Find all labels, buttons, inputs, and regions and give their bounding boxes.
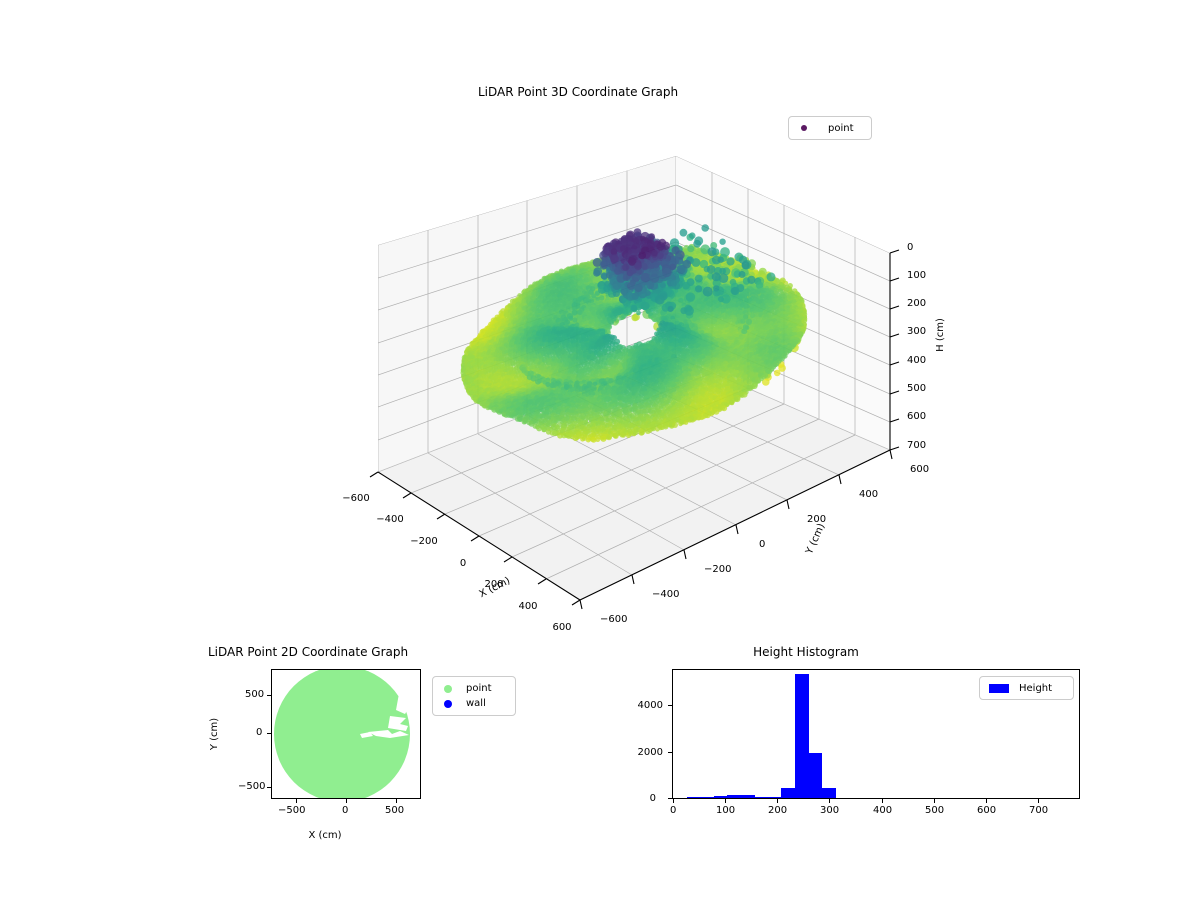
circle-marker-icon	[440, 685, 456, 693]
legend-item-point[interactable]: point	[433, 681, 515, 696]
chart-3d-title: LiDAR Point 3D Coordinate Graph	[478, 85, 678, 99]
histogram-bar	[754, 797, 768, 798]
x-tick-label-hist: 700	[1029, 806, 1048, 816]
x-axis-label-2d: X (cm)	[308, 831, 341, 841]
histogram-bar	[700, 797, 714, 798]
circle-marker-icon	[440, 700, 456, 708]
y-axis-label-3d: Y (cm)	[804, 522, 828, 557]
y-tick-label-hist: 4000	[638, 701, 663, 711]
histogram-bar	[727, 795, 741, 798]
y-tick-label-2d: 0	[256, 728, 262, 738]
histogram-bar	[714, 796, 728, 798]
chart-2d-legend[interactable]: point wall	[432, 676, 516, 716]
x-tick-label-2d: −500	[278, 806, 305, 816]
histogram-bar	[822, 788, 836, 798]
y-tick-label-2d: −500	[238, 782, 265, 792]
x-tick-label-hist: 200	[768, 806, 787, 816]
chart-3d-canvas: −600 −400 −200 0 200 400 600 −600 −400 −…	[300, 120, 940, 640]
x-tick-label-hist: 500	[925, 806, 944, 816]
legend-item-wall[interactable]: wall	[433, 696, 515, 711]
y-tick-label-2d: 500	[245, 690, 264, 700]
chart-2d-axes[interactable]	[271, 669, 421, 799]
point-cloud-2d	[274, 670, 411, 798]
histogram-bar	[795, 674, 809, 798]
histogram-bar	[687, 797, 701, 798]
y-tick-label-hist: 0	[650, 794, 656, 804]
y-axis-label-2d: Y (cm)	[210, 718, 220, 750]
chart-hist-legend[interactable]: Height	[979, 676, 1074, 700]
x-tick-label-hist: 100	[716, 806, 735, 816]
z-axis-ticks-3d	[890, 250, 899, 450]
chart-2d-canvas	[272, 670, 420, 798]
chart-2d-title: LiDAR Point 2D Coordinate Graph	[208, 645, 408, 659]
x-tick-label-2d: 0	[342, 806, 348, 816]
bar-patch-icon	[987, 684, 1011, 693]
x-tick-label-hist: 0	[670, 806, 676, 816]
y-tick-label-hist: 2000	[638, 748, 663, 758]
histogram-bar	[781, 788, 795, 798]
legend-label: Height	[1011, 683, 1052, 694]
histogram-bar	[768, 797, 782, 798]
legend-item-height[interactable]: Height	[980, 681, 1073, 696]
chart-hist-title: Height Histogram	[753, 645, 859, 659]
z-axis-label-3d: H (cm)	[935, 318, 946, 352]
matplotlib-figure: LiDAR Point 3D Coordinate Graph point	[0, 0, 1200, 900]
legend-label: wall	[456, 698, 486, 709]
x-tick-label-hist: 600	[977, 806, 996, 816]
z-axis-tick-labels-3d: 0 100 200 300 400 500 600 700	[907, 242, 926, 451]
chart-3d-axes[interactable]: −600 −400 −200 0 200 400 600 −600 −400 −…	[300, 120, 940, 640]
x-tick-label-hist: 400	[873, 806, 892, 816]
histogram-bar	[808, 753, 822, 798]
legend-label: point	[456, 683, 492, 694]
x-tick-label-hist: 300	[820, 806, 839, 816]
histogram-bar	[741, 795, 755, 798]
x-tick-label-2d: 500	[385, 806, 404, 816]
